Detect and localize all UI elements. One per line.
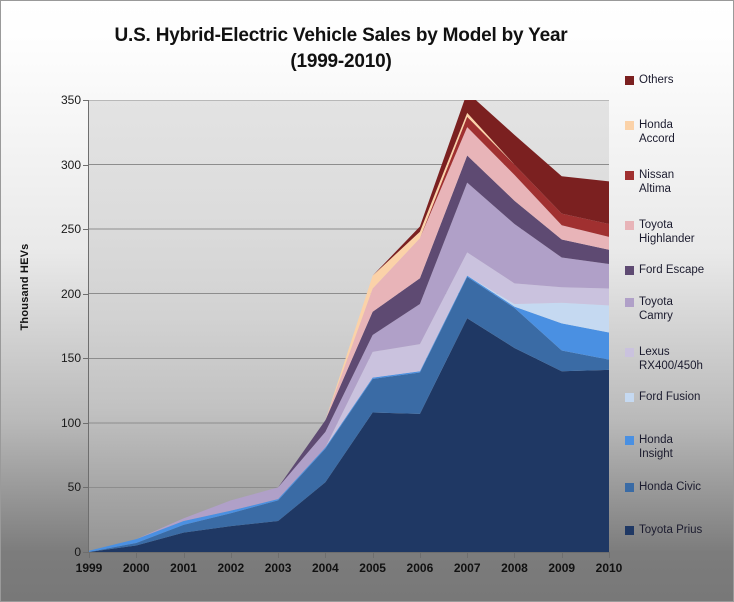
y-tick-label: 0: [41, 545, 81, 559]
x-tick-mark: [514, 553, 515, 558]
legend-label: Toyota Camry: [639, 295, 673, 323]
chart-title-line2: (1999-2010): [41, 49, 641, 75]
y-tick-label: 250: [41, 222, 81, 236]
legend-label: Honda Insight: [639, 433, 673, 461]
y-tick-label: 50: [41, 480, 81, 494]
legend-swatch-icon: [625, 298, 634, 307]
legend-swatch-icon: [625, 436, 634, 445]
y-tick-mark: [83, 358, 89, 359]
x-tick-mark: [278, 553, 279, 558]
legend-item[interactable]: Others: [625, 73, 733, 87]
legend-item[interactable]: Ford Fusion: [625, 390, 733, 404]
legend-item[interactable]: Toyota Camry: [625, 295, 733, 323]
x-tick-mark: [609, 553, 610, 558]
x-tick-mark: [89, 553, 90, 558]
x-tick-mark: [136, 553, 137, 558]
legend-swatch-icon: [625, 266, 634, 275]
legend-label: Nissan Altima: [639, 168, 674, 196]
y-tick-mark: [83, 100, 89, 101]
legend-item[interactable]: Ford Escape: [625, 263, 733, 277]
y-axis-labels: 350300250200150100500: [39, 1, 81, 602]
legend-item[interactable]: Nissan Altima: [625, 168, 733, 196]
legend-label: Ford Escape: [639, 263, 704, 277]
legend-label: Honda Accord: [639, 118, 675, 146]
legend-swatch-icon: [625, 393, 634, 402]
plot-area: [89, 100, 609, 552]
legend-label: Honda Civic: [639, 480, 701, 494]
y-tick-label: 350: [41, 93, 81, 107]
legend-swatch-icon: [625, 76, 634, 85]
y-tick-label: 200: [41, 287, 81, 301]
y-tick-mark: [83, 294, 89, 295]
x-tick-mark: [231, 553, 232, 558]
stacked-area-svg: [89, 100, 609, 552]
legend-label: Toyota Highlander: [639, 218, 695, 246]
y-tick-label: 300: [41, 158, 81, 172]
x-tick-label: 2010: [579, 561, 639, 575]
x-tick-mark: [467, 553, 468, 558]
x-axis-line: [88, 552, 610, 553]
y-tick-label: 150: [41, 351, 81, 365]
x-tick-mark: [373, 553, 374, 558]
x-tick-mark: [562, 553, 563, 558]
legend-item[interactable]: Toyota Highlander: [625, 218, 733, 246]
legend-label: Toyota Prius: [639, 523, 702, 537]
legend-item[interactable]: Toyota Prius: [625, 523, 733, 537]
hev-sales-area-chart: U.S. Hybrid-Electric Vehicle Sales by Mo…: [0, 0, 734, 602]
y-tick-label: 100: [41, 416, 81, 430]
legend-label: Ford Fusion: [639, 390, 700, 404]
legend-swatch-icon: [625, 171, 634, 180]
legend-item[interactable]: Lexus RX400/450h: [625, 345, 733, 373]
y-axis-line: [88, 100, 89, 553]
legend-swatch-icon: [625, 121, 634, 130]
legend-item[interactable]: Honda Civic: [625, 480, 733, 494]
y-tick-mark: [83, 487, 89, 488]
legend-swatch-icon: [625, 221, 634, 230]
legend-item[interactable]: Honda Accord: [625, 118, 733, 146]
legend-label: Lexus RX400/450h: [639, 345, 703, 373]
x-tick-mark: [184, 553, 185, 558]
y-axis-title: Thousand HEVs: [19, 227, 31, 347]
legend-item[interactable]: Honda Insight: [625, 433, 733, 461]
area-series-group: [89, 100, 609, 552]
y-tick-mark: [83, 229, 89, 230]
legend-label: Others: [639, 73, 674, 87]
legend-swatch-icon: [625, 483, 634, 492]
y-tick-mark: [83, 423, 89, 424]
chart-title-line1: U.S. Hybrid-Electric Vehicle Sales by Mo…: [114, 25, 567, 46]
x-tick-mark: [420, 553, 421, 558]
legend-swatch-icon: [625, 348, 634, 357]
y-tick-mark: [83, 165, 89, 166]
legend-swatch-icon: [625, 526, 634, 535]
x-tick-mark: [325, 553, 326, 558]
chart-title: U.S. Hybrid-Electric Vehicle Sales by Mo…: [41, 23, 641, 75]
